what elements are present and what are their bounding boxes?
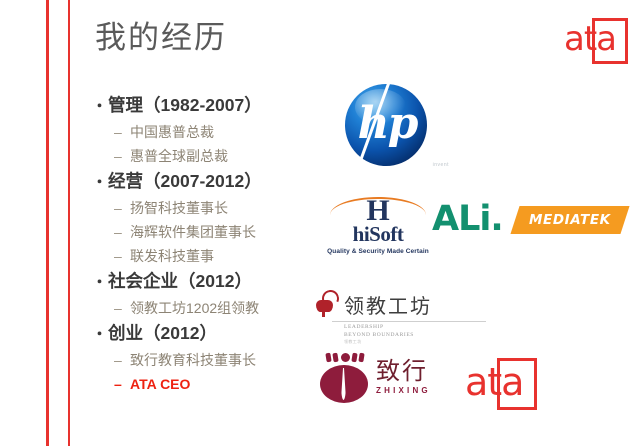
outline-group: ・ 管理（1982-2007） – 中国惠普总裁 – 惠普全球副总裁 [92,92,327,168]
bullet-dot-icon: ・ [92,94,107,120]
outline-group-heading: ・ 创业（2012） [92,320,327,348]
dash-icon: – [114,348,130,372]
zhixing-mark-icon [320,352,368,404]
lingjiao-logo: 领教工坊 LEADERSHIP BEYOND BOUNDARIES 领教工坊 [310,288,486,345]
bullet-dot-icon: ・ [92,170,107,196]
left-accent-rule-thin [68,0,70,446]
outline-item-label: 联发科技董事 [130,244,214,268]
ata-wordmark: ata [564,18,628,56]
zhixing-dot [341,353,350,362]
outline-item: – 致行教育科技董事长 [92,348,327,372]
dash-icon: – [114,144,130,168]
ata-logo-mark: ata [465,358,537,401]
page-title: 我的经历 [95,18,227,58]
outline-item: – 联发科技董事 [92,244,327,268]
hp-tagline: invent [433,162,449,168]
outline-item-label: 惠普全球副总裁 [130,144,228,168]
hisoft-logo: H hiSoft Quality & Security Made Certain [326,192,430,255]
outline-item-label: 致行教育科技董事长 [130,348,256,372]
hp-circle-icon: hp [345,84,427,166]
ali-text: ALi [432,199,490,239]
outline-item: – 中国惠普总裁 [92,120,327,144]
mediatek-logo: MEDIATEK [515,206,625,234]
outline-item: – 领教工坊1202组领教 [92,296,327,320]
ata-logo-large: ata [465,358,537,401]
outline-item-label: 扬智科技董事长 [130,196,228,220]
zhixing-logo: 致行 ZHIXING [320,352,431,404]
zhixing-wordmark: 致行 [376,359,431,385]
outline-item-label: ATA CEO [130,372,190,396]
corner-ata-logo: ata [564,18,628,56]
outline-item: – 海辉软件集团董事长 [92,220,327,244]
zhixing-dot [332,353,338,363]
zhixing-dot [351,353,357,363]
outline-group-label: 社会企业（2012） [108,268,252,294]
dash-icon: – [114,244,130,268]
outline-group-heading: ・ 管理（1982-2007） [92,92,327,120]
left-accent-rule-thick [46,0,49,446]
lingjiao-subtitle-line1: LEADERSHIP [310,324,486,332]
ali-dot-icon: . [490,199,502,239]
outline-group: ・ 经营（2007-2012） – 扬智科技董事长 – 海辉软件集团董事长 – … [92,168,327,268]
outline-group-label: 管理（1982-2007） [108,92,262,118]
dash-icon: – [114,220,130,244]
outline-group: ・ 社会企业（2012） – 领教工坊1202组领教 [92,268,327,320]
outline-item: – 扬智科技董事长 [92,196,327,220]
zhixing-text-block: 致行 ZHIXING [368,359,431,397]
ali-logo: ALi. [432,200,503,238]
lingjiao-mark-icon [310,288,340,318]
dash-icon: – [114,120,130,144]
zhixing-dots-icon [324,352,364,364]
company-logo-panel: hp invent H hiSoft Quality & Security Ma… [310,80,636,422]
zhixing-dot [358,353,364,363]
slide-canvas: 我的经历 ata ・ 管理（1982-2007） – 中国惠普总裁 – 惠普全球… [0,0,640,446]
ata-wordmark: ata [465,358,537,401]
ata-logo-mark: ata [564,18,628,56]
outline-group-heading: ・ 社会企业（2012） [92,268,327,296]
dash-icon: – [114,372,130,396]
lingjiao-row: 领教工坊 [310,288,486,318]
lingjiao-subtitle-line3: 领教工坊 [310,339,486,345]
outline-item-label: 领教工坊1202组领教 [130,296,259,320]
zhixing-ellipse-icon [320,365,368,403]
zhixing-row: 致行 ZHIXING [320,352,431,404]
ali-wordmark: ALi. [432,200,503,238]
mediatek-wordmark: MEDIATEK [529,212,611,228]
hisoft-tagline: Quality & Security Made Certain [326,248,430,255]
bullet-dot-icon: ・ [92,270,107,296]
experience-outline: ・ 管理（1982-2007） – 中国惠普总裁 – 惠普全球副总裁 ・ 经营（… [92,92,327,396]
lingjiao-divider [332,321,486,322]
zhixing-pinyin: ZHIXING [376,385,431,397]
outline-group-label: 创业（2012） [108,320,217,346]
hisoft-mark-icon: H [326,192,430,222]
mediatek-parallelogram-icon: MEDIATEK [510,206,629,234]
outline-item-highlighted: – ATA CEO [92,372,327,396]
outline-item-label: 中国惠普总裁 [130,120,214,144]
hp-wordmark: hp [346,82,428,164]
dash-icon: – [114,196,130,220]
lingjiao-shape-stem [322,308,325,317]
outline-group-label: 经营（2007-2012） [108,168,262,194]
lingjiao-wordmark: 领教工坊 [340,296,432,318]
lingjiao-subtitle-line2: BEYOND BOUNDARIES [310,332,486,340]
bullet-dot-icon: ・ [92,322,107,348]
outline-group-heading: ・ 经营（2007-2012） [92,168,327,196]
dash-icon: – [114,296,130,320]
outline-group: ・ 创业（2012） – 致行教育科技董事长 – ATA CEO [92,320,327,396]
zhixing-dot [325,353,331,363]
outline-item: – 惠普全球副总裁 [92,144,327,168]
outline-item-label: 海辉软件集团董事长 [130,220,256,244]
hp-logo: hp invent [345,84,427,166]
